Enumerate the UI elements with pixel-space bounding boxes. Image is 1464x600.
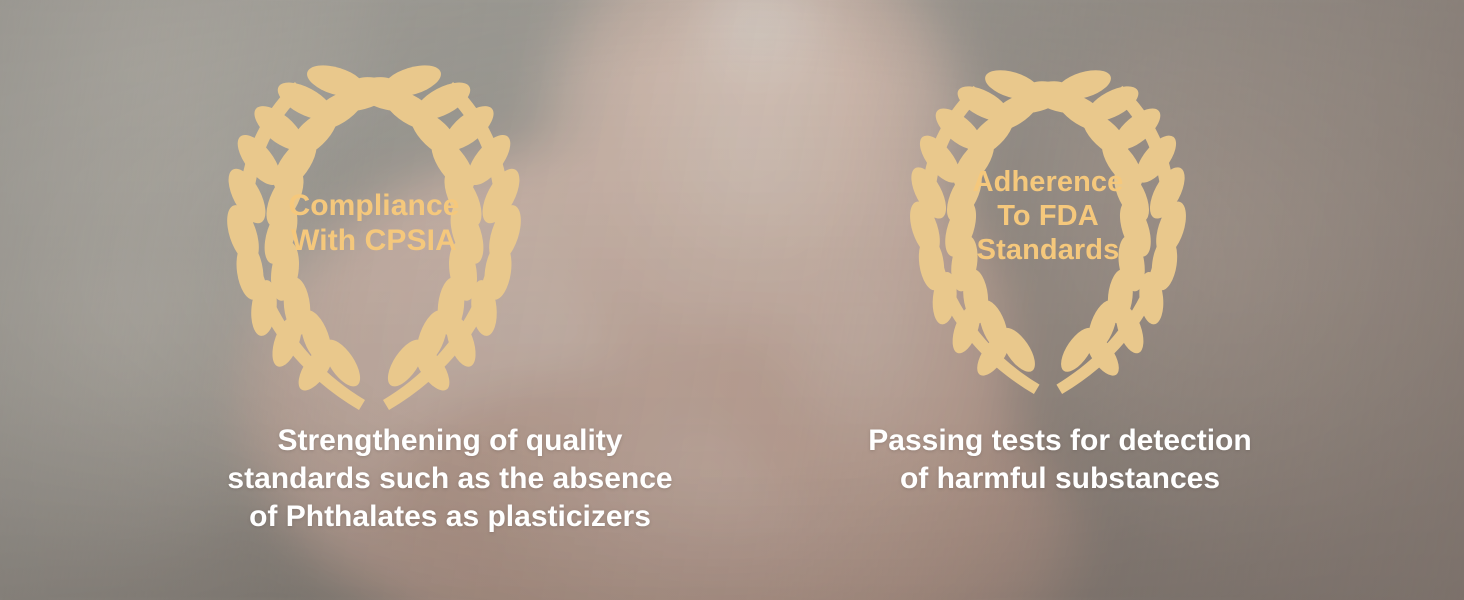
laurel-wreath-icon [893, 38, 1203, 408]
badge-cpsia: Compliance With CPSIA [164, 38, 584, 438]
badge-caption-fda: Passing tests for detection of harmful s… [800, 422, 1320, 498]
laurel-wreath-icon [209, 38, 539, 418]
compliance-banner: Compliance With CPSIA [0, 0, 1464, 600]
banner-content: Compliance With CPSIA [0, 0, 1464, 600]
badge-fda: Adherence To FDA Standards [838, 38, 1258, 438]
badge-caption-cpsia: Strengthening of quality standards such … [150, 422, 750, 535]
